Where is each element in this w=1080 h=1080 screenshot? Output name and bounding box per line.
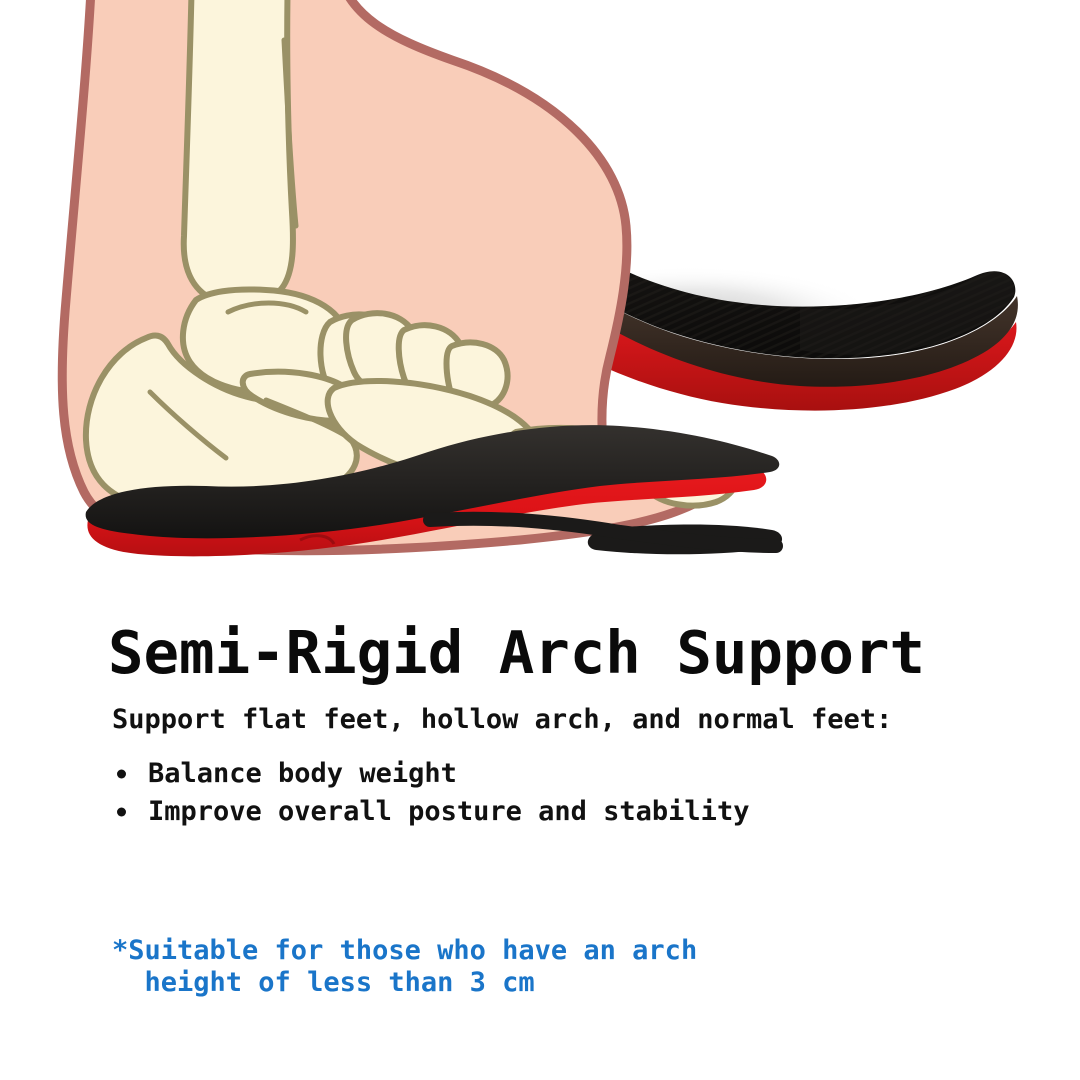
footnote: *Suitable for those who have an arch hei…	[112, 935, 697, 999]
tibia-bone	[184, 0, 293, 306]
list-item-label: Balance body weight	[148, 758, 457, 789]
bullet-dot-icon	[117, 769, 126, 778]
list-item-label: Improve overall posture and stability	[148, 796, 749, 827]
benefits-list: Balance body weight Improve overall post…	[112, 758, 749, 834]
subtitle: Support flat feet, hollow arch, and norm…	[112, 704, 892, 736]
list-item: Improve overall posture and stability	[112, 796, 749, 828]
bullet-dot-icon	[117, 807, 126, 816]
product-illustration	[0, 0, 1080, 600]
infographic-page: Semi-Rigid Arch Support Support flat fee…	[0, 0, 1080, 1080]
copy-block: Semi-Rigid Arch Support Support flat fee…	[0, 600, 1080, 1080]
list-item: Balance body weight	[112, 758, 749, 790]
page-title: Semi-Rigid Arch Support	[108, 622, 925, 684]
